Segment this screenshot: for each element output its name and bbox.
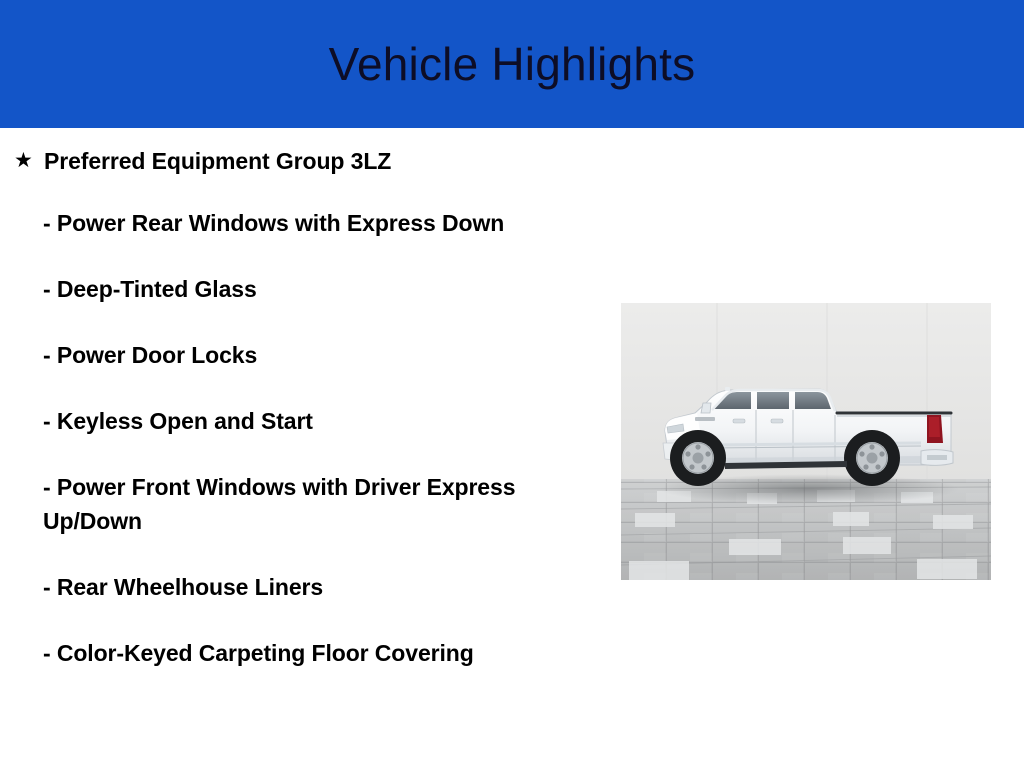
list-item: - Power Rear Windows with Express Down	[43, 206, 571, 240]
slide: Vehicle Highlights ★ Preferred Equipment…	[0, 0, 1024, 768]
list-item: - Keyless Open and Start	[43, 404, 571, 438]
feature-list: - Power Rear Windows with Express Down -…	[43, 206, 573, 670]
list-item: - Deep-Tinted Glass	[43, 272, 571, 306]
star-icon: ★	[14, 146, 44, 176]
list-item: - Power Front Windows with Driver Expres…	[43, 470, 571, 538]
vehicle-photo	[621, 303, 991, 580]
list-item: - Color-Keyed Carpeting Floor Covering	[43, 636, 571, 670]
title-banner: Vehicle Highlights	[0, 0, 1024, 128]
vehicle-photo-graphic	[621, 303, 991, 580]
equipment-group-row: ★ Preferred Equipment Group 3LZ	[14, 146, 584, 176]
equipment-group-label: Preferred Equipment Group 3LZ	[44, 146, 391, 176]
list-item: - Power Door Locks	[43, 338, 571, 372]
list-item: - Rear Wheelhouse Liners	[43, 570, 571, 604]
highlights-content: ★ Preferred Equipment Group 3LZ - Power …	[0, 128, 600, 768]
page-title: Vehicle Highlights	[329, 41, 696, 87]
